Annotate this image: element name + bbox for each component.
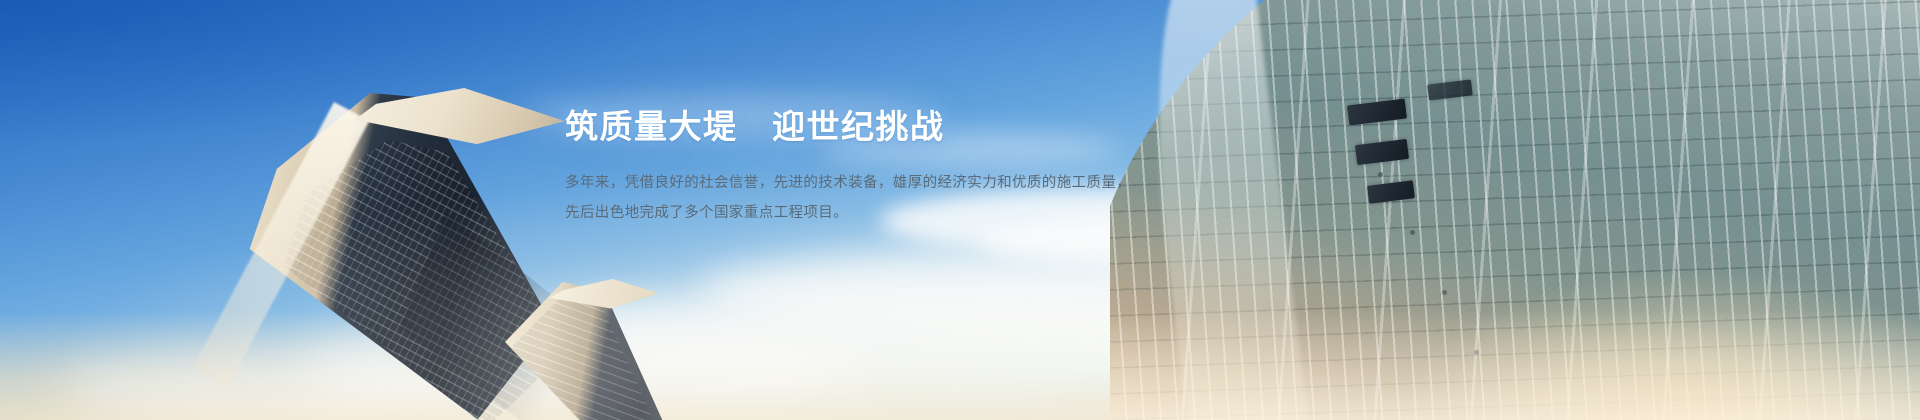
hero-banner: 筑质量大堤 迎世纪挑战 多年来，凭借良好的社会信誉，先进的技术装备，雄厚的经济实… xyxy=(0,0,1920,420)
banner-copy-block: 筑质量大堤 迎世纪挑战 多年来，凭借良好的社会信誉，先进的技术装备，雄厚的经济实… xyxy=(565,106,1125,229)
curved-glass-building xyxy=(1110,0,1920,420)
banner-headline: 筑质量大堤 迎世纪挑战 xyxy=(565,106,1125,147)
secondary-tower xyxy=(505,282,695,420)
facade-fixing-dot xyxy=(1442,290,1447,295)
facade-fixing-dot xyxy=(1474,350,1479,355)
facade-fixing-dot xyxy=(1410,230,1415,235)
banner-subcopy: 多年来，凭借良好的社会信誉，先进的技术装备，雄厚的经济实力和优质的施工质量， 先… xyxy=(565,169,1125,228)
banner-subcopy-line-2: 先后出色地完成了多个国家重点工程项目。 xyxy=(565,199,1125,229)
banner-subcopy-line-1: 多年来，凭借良好的社会信誉，先进的技术装备，雄厚的经济实力和优质的施工质量， xyxy=(565,169,1125,199)
facade-fixing-dot xyxy=(1378,172,1383,177)
